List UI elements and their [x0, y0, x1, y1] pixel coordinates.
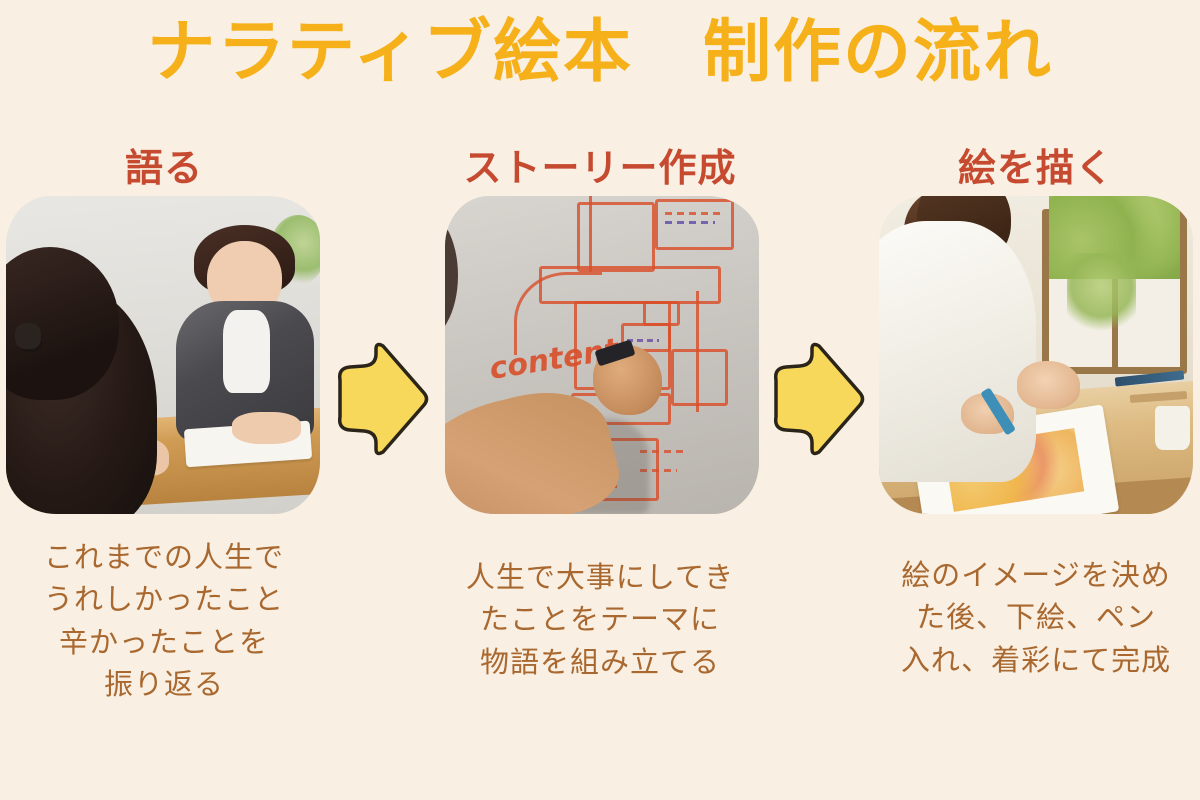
process-flow: 語る これまでの人生で うれしかったこと 辛かったことを 振り返る ストーリ — [0, 140, 1200, 780]
photo2-scribble — [627, 339, 658, 342]
photo2-sketch-box — [655, 199, 734, 250]
step-1-talk: 語る これまでの人生で うれしかったこと 辛かったことを 振り返る — [0, 140, 328, 705]
whiteboard-photo: content — [445, 196, 759, 514]
photo1-woman-shirt — [223, 310, 270, 393]
arrow-step2-to-step3 — [764, 140, 872, 458]
step-3-caption: 絵のイメージを決め た後、下絵、ペン 入れ、着彩にて完成 — [901, 554, 1171, 681]
photo2-sketch-box — [643, 301, 681, 326]
photo1-hair-clip — [15, 323, 40, 348]
page-title: ナラティブ絵本 制作の流れ — [0, 14, 1200, 92]
photo3-plants — [1067, 253, 1136, 336]
photo3-right-hand — [1017, 361, 1080, 409]
step-1-label: 語る — [125, 140, 203, 196]
right-arrow-icon — [770, 340, 866, 458]
step-1-caption: これまでの人生で うれしかったこと 辛かったことを 振り返る — [44, 536, 284, 705]
step-3-label: 絵を描く — [958, 140, 1114, 196]
photo2-scribble — [665, 221, 715, 224]
photo2-sketch-box — [671, 349, 728, 406]
illustration-photo — [879, 196, 1193, 514]
step-2-label: ストーリー作成 — [463, 140, 736, 196]
photo2-sketch-line — [696, 291, 699, 412]
step-2-caption: 人生で大事にしてき たことをテーマに 物語を組み立てる — [466, 556, 734, 683]
right-arrow-icon — [334, 340, 430, 458]
photo2-sketch-line — [589, 196, 592, 272]
photo1-woman-hands — [232, 412, 301, 444]
interview-photo — [6, 196, 320, 514]
photo2-scribble — [665, 212, 722, 215]
step-3-draw: 絵を描く 絵のイメージを決め た後、下絵、ペン 入れ、着彩にて完成 — [872, 140, 1200, 681]
photo3-cup — [1155, 406, 1190, 451]
arrow-step1-to-step2 — [328, 140, 436, 458]
photo3-person-shirt — [879, 221, 1036, 482]
step-2-story: ストーリー作成 content — [436, 140, 764, 683]
